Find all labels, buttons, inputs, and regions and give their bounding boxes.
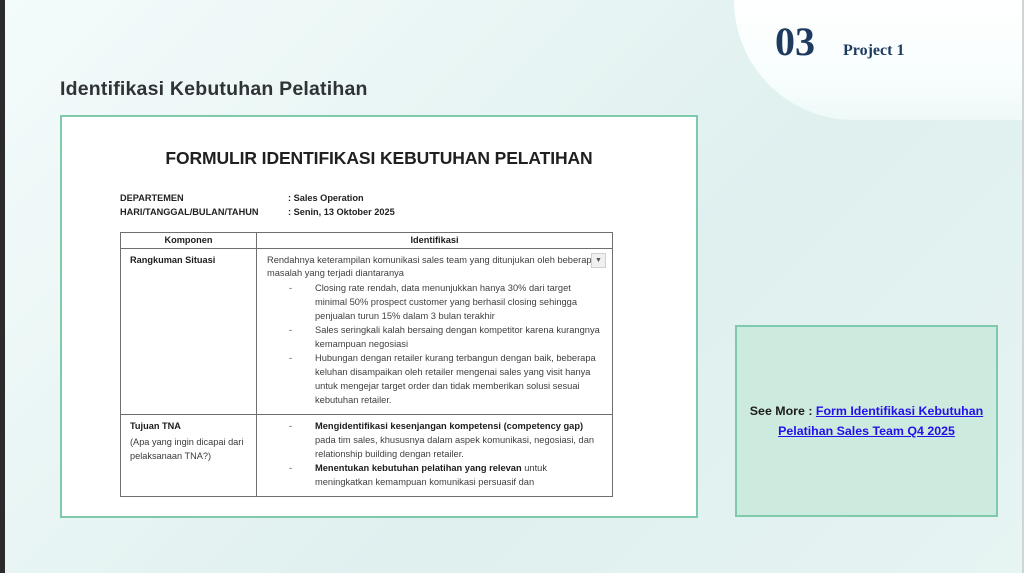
document-panel[interactable]: FORMULIR IDENTIFIKASI KEBUTUHAN PELATIHA… bbox=[60, 115, 698, 518]
situation-bullet-list: Closing rate rendah, data menunjukkan ha… bbox=[267, 282, 602, 407]
cell-identifikasi: Mengidentifikasi kesenjangan kompetensi … bbox=[257, 414, 613, 496]
see-more-callout[interactable]: See More : Form Identifikasi Kebutuhan P… bbox=[735, 325, 998, 517]
bullet-lead: Mengidentifikasi kesenjangan kompetensi … bbox=[315, 421, 583, 431]
see-more-prefix: See More : bbox=[750, 404, 816, 418]
component-name: Tujuan TNA bbox=[125, 417, 252, 433]
component-note: (Apa yang ingin dicapai dari pelaksanaan… bbox=[125, 433, 252, 463]
list-item: Closing rate rendah, data menunjukkan ha… bbox=[289, 282, 602, 324]
section-number-block: 03 Project 1 bbox=[775, 22, 904, 62]
identification-content: Mengidentifikasi kesenjangan kompetensi … bbox=[261, 417, 608, 494]
bullet-text: pada tim sales, khususnya dalam aspek ko… bbox=[315, 435, 594, 459]
meta-row-departemen: DEPARTEMEN : Sales Operation bbox=[120, 191, 696, 205]
identification-table: Komponen Identifikasi Rangkuman Situasi … bbox=[120, 232, 613, 497]
situation-intro: Rendahnya keterampilan komunikasi sales … bbox=[267, 254, 602, 282]
list-item: Menentukan kebutuhan pelatihan yang rele… bbox=[289, 462, 602, 490]
slide-root: Identifikasi Kebutuhan Pelatihan 03 Proj… bbox=[0, 0, 1024, 573]
table-row: Tujuan TNA (Apa yang ingin dicapai dari … bbox=[121, 414, 613, 496]
meta-row-tanggal: HARI/TANGGAL/BULAN/TAHUN : Senin, 13 Okt… bbox=[120, 205, 696, 219]
cell-komponen: Rangkuman Situasi bbox=[121, 248, 257, 414]
see-more-text: See More : Form Identifikasi Kebutuhan P… bbox=[737, 401, 996, 441]
bullet-text: Closing rate rendah, data menunjukkan ha… bbox=[315, 283, 577, 321]
column-header-komponen: Komponen bbox=[121, 232, 257, 248]
left-edge-bar bbox=[0, 0, 5, 573]
bullet-text: Sales seringkali kalah bersaing dengan k… bbox=[315, 325, 600, 349]
table-header-row: Komponen Identifikasi bbox=[121, 232, 613, 248]
table-head: Komponen Identifikasi bbox=[121, 232, 613, 248]
meta-key-tanggal: HARI/TANGGAL/BULAN/TAHUN bbox=[120, 205, 288, 219]
bullet-lead: Menentukan kebutuhan pelatihan yang rele… bbox=[315, 463, 522, 473]
list-item: Sales seringkali kalah bersaing dengan k… bbox=[289, 324, 602, 352]
meta-value-tanggal: : Senin, 13 Oktober 2025 bbox=[288, 205, 395, 219]
form-title: FORMULIR IDENTIFIKASI KEBUTUHAN PELATIHA… bbox=[62, 148, 696, 169]
section-number: 03 bbox=[775, 22, 815, 62]
column-header-identifikasi: Identifikasi bbox=[257, 232, 613, 248]
objective-bullet-list: Mengidentifikasi kesenjangan kompetensi … bbox=[267, 420, 602, 490]
document-inner: FORMULIR IDENTIFIKASI KEBUTUHAN PELATIHA… bbox=[62, 148, 696, 518]
table-body: Rangkuman Situasi ▼ Rendahnya keterampil… bbox=[121, 248, 613, 496]
list-item: Hubungan dengan retailer kurang terbangu… bbox=[289, 352, 602, 408]
form-meta: DEPARTEMEN : Sales Operation HARI/TANGGA… bbox=[120, 191, 696, 220]
section-label: Project 1 bbox=[843, 42, 904, 60]
cell-identifikasi: ▼ Rendahnya keterampilan komunikasi sale… bbox=[257, 248, 613, 414]
cell-komponen: Tujuan TNA (Apa yang ingin dicapai dari … bbox=[121, 414, 257, 496]
meta-key-departemen: DEPARTEMEN bbox=[120, 191, 288, 205]
dropdown-arrow-icon[interactable]: ▼ bbox=[591, 253, 606, 268]
table-row: Rangkuman Situasi ▼ Rendahnya keterampil… bbox=[121, 248, 613, 414]
list-item: Mengidentifikasi kesenjangan kompetensi … bbox=[289, 420, 602, 462]
page-title: Identifikasi Kebutuhan Pelatihan bbox=[60, 78, 368, 101]
identification-content: ▼ Rendahnya keterampilan komunikasi sale… bbox=[261, 251, 608, 412]
component-name: Rangkuman Situasi bbox=[125, 251, 252, 267]
bullet-text: Hubungan dengan retailer kurang terbangu… bbox=[315, 353, 596, 405]
meta-value-departemen: : Sales Operation bbox=[288, 191, 364, 205]
